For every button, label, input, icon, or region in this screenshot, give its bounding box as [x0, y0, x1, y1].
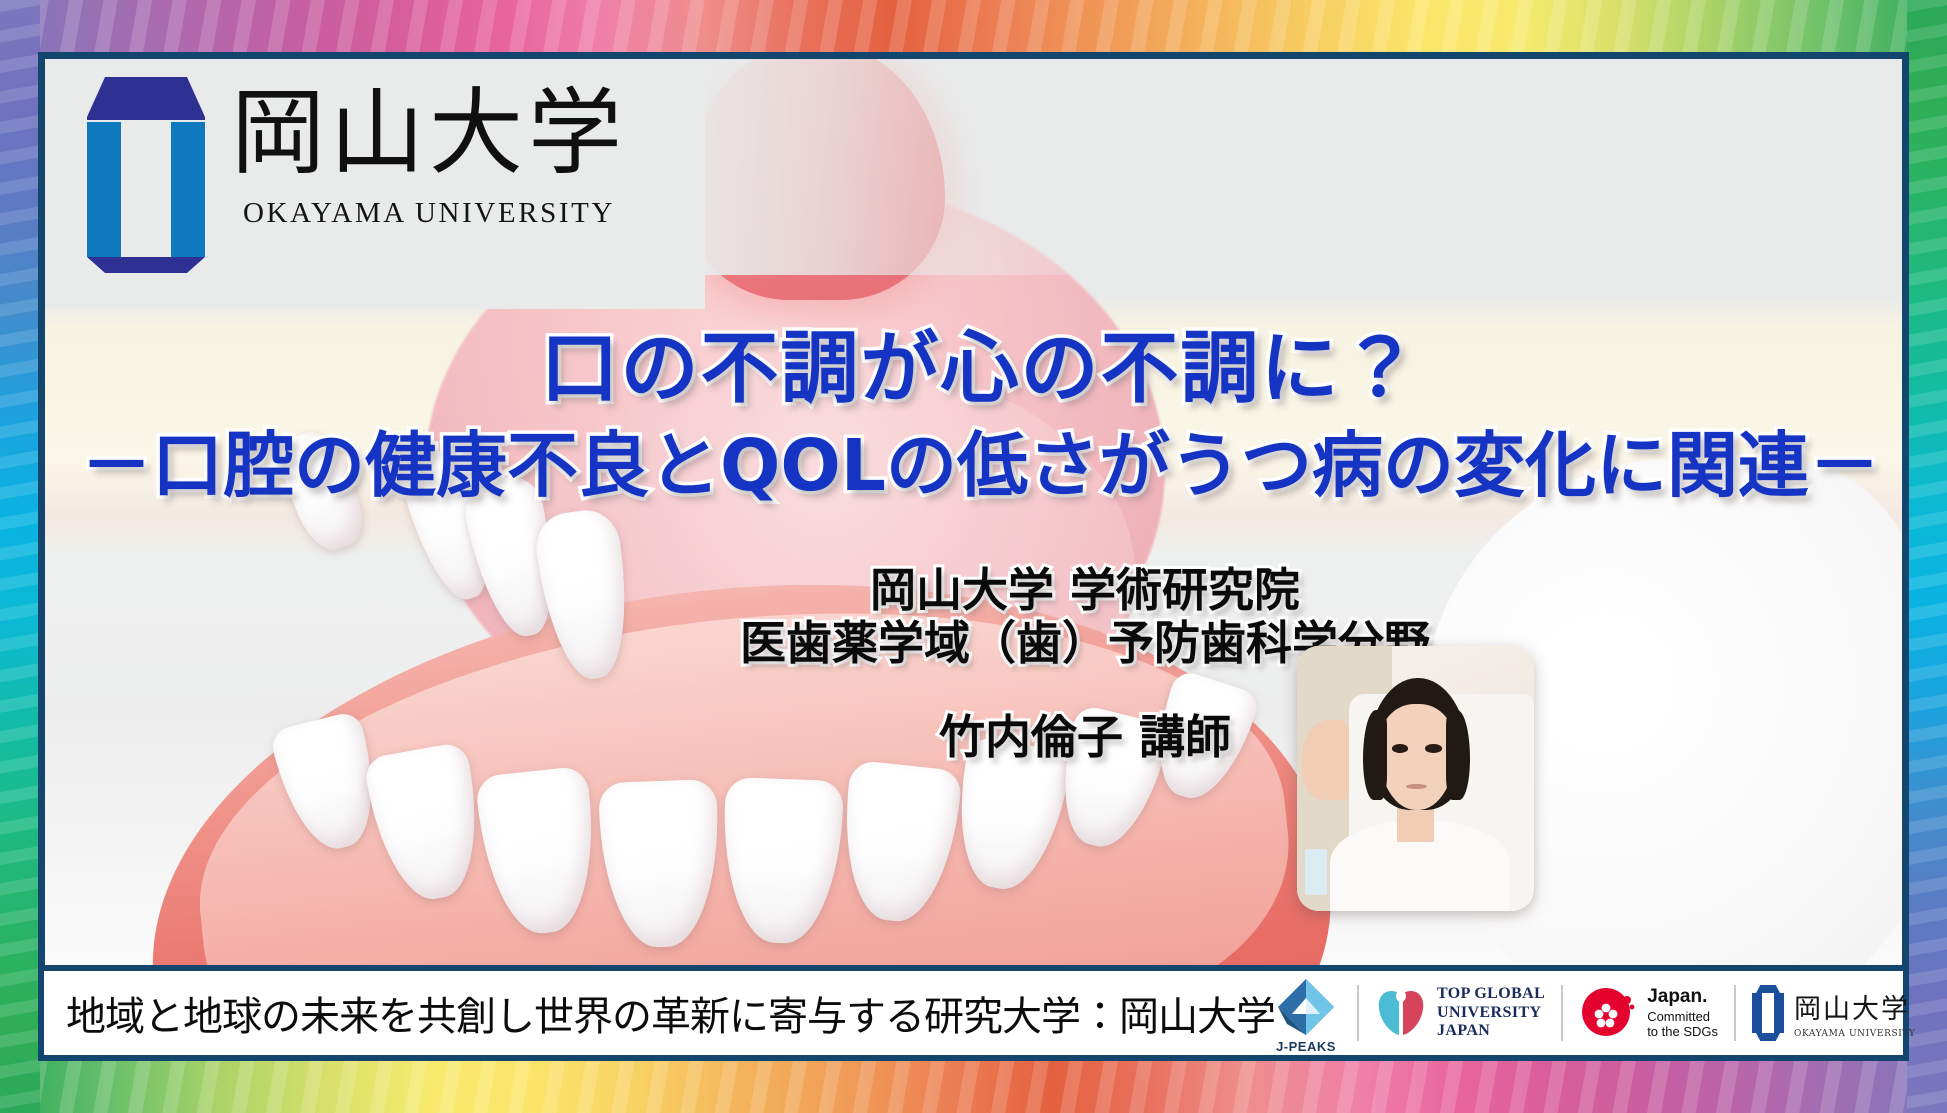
- okayama-footer-ja: 岡山大学: [1794, 987, 1916, 1026]
- logo-name-en: OKAYAMA UNIVERSITY: [231, 197, 627, 230]
- tgu-line1: TOP GLOBAL: [1437, 985, 1545, 1004]
- sdgs-line3: to the SDGs: [1647, 1024, 1718, 1039]
- sdgs-line2: Committed: [1647, 1009, 1718, 1024]
- j-peaks-label: J-PEAKS: [1275, 1039, 1337, 1054]
- author-portrait-photo: [1297, 646, 1534, 911]
- footer-divider: [1734, 985, 1736, 1041]
- author-affiliation-line1: 岡山大学 学術研究院: [605, 564, 1565, 617]
- tgu-line3: JAPAN: [1437, 1022, 1545, 1041]
- tgu-line2: UNIVERSITY: [1437, 1004, 1545, 1023]
- okayama-university-logo: 岡山大学 OKAYAMA UNIVERSITY: [87, 77, 627, 273]
- content-frame: 岡山大学 OKAYAMA UNIVERSITY 口の不調が心の不調に？ －口腔の…: [38, 52, 1909, 1060]
- logo-name-ja: 岡山大学: [231, 87, 627, 181]
- rainbow-border-bottom: [0, 1055, 1947, 1113]
- footer-divider: [1357, 985, 1359, 1041]
- title-block: 口の不調が心の不調に？ －口腔の健康不良とQOLの低さがうつ病の変化に関連－: [45, 327, 1909, 505]
- rainbow-border-right: [1907, 0, 1947, 1113]
- footer-logo-sdgs: Japan. Committed to the SDGs: [1579, 984, 1718, 1042]
- sdgs-sakura-circle-icon: [1579, 984, 1637, 1042]
- tgu-label: TOP GLOBAL UNIVERSITY JAPAN: [1437, 985, 1545, 1042]
- footer-logo-strip: J-PEAKS TOP GLOBAL UNIVERSITY JAPAN: [1275, 971, 1903, 1055]
- okayama-footer-label: 岡山大学 OKAYAMA UNIVERSITY: [1794, 987, 1916, 1039]
- footer-divider: [1561, 985, 1563, 1041]
- j-peaks-mountain-icon: [1275, 976, 1337, 1038]
- footer-logo-j-peaks: J-PEAKS: [1275, 976, 1341, 1050]
- sdgs-line1: Japan.: [1647, 986, 1718, 1008]
- butterfly-icon: [1375, 985, 1427, 1041]
- okayama-footer-en: OKAYAMA UNIVERSITY: [1794, 1029, 1916, 1039]
- footer-logo-okayama-university: 岡山大学 OKAYAMA UNIVERSITY: [1752, 985, 1916, 1041]
- page-subtitle: －口腔の健康不良とQOLの低さがうつ病の変化に関連－: [45, 427, 1909, 505]
- okayama-u-shield-icon: [1752, 985, 1784, 1041]
- okayama-u-shield-icon: [87, 77, 205, 273]
- footer-logo-top-global-university: TOP GLOBAL UNIVERSITY JAPAN: [1375, 985, 1545, 1042]
- footer-tagline: 地域と地球の未来を共創し世界の革新に寄与する研究大学：岡山大学: [44, 984, 1275, 1042]
- rainbow-border-left: [0, 0, 40, 1113]
- page-title: 口の不調が心の不調に？: [45, 327, 1909, 411]
- press-release-slide: 岡山大学 OKAYAMA UNIVERSITY 口の不調が心の不調に？ －口腔の…: [0, 0, 1947, 1113]
- rainbow-border-top: [0, 0, 1947, 58]
- footer-bar: 地域と地球の未来を共創し世界の革新に寄与する研究大学：岡山大学 J-PEAKS: [38, 965, 1909, 1061]
- sdgs-label: Japan. Committed to the SDGs: [1647, 986, 1718, 1039]
